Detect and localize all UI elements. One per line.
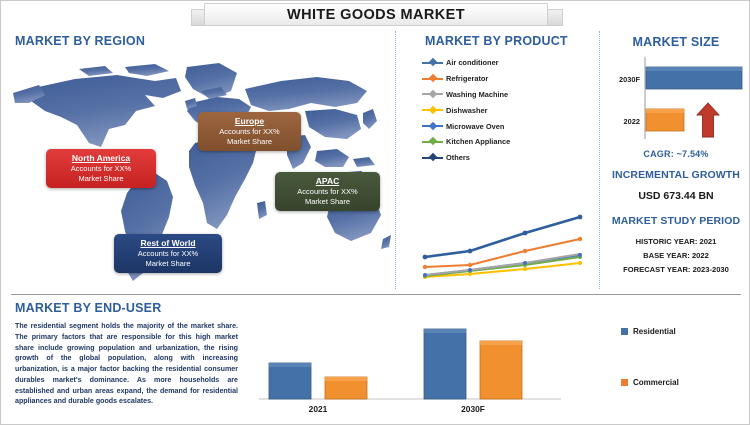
market-by-region-heading: MARKET BY REGION — [15, 34, 145, 48]
infographic-page: WHITE GOODS MARKET MARKET BY REGION — [0, 0, 750, 425]
legend-label: Kitchen Appliance — [443, 137, 510, 146]
base-year: BASE YEAR: 2022 — [601, 251, 750, 260]
legend-label: Microwave Oven — [443, 122, 504, 131]
legend-label: Dishwasher — [443, 106, 488, 115]
cagr-value: CAGR: ~7.54% — [601, 149, 750, 159]
region-line-2: Market Share — [52, 174, 150, 183]
historic-year: HISTORIC YEAR: 2021 — [601, 237, 750, 246]
svg-text:2030F: 2030F — [619, 75, 640, 84]
market-size-bar-chart: 2030F 2022 — [607, 53, 749, 145]
legend-item[interactable]: Refrigerator — [422, 71, 582, 87]
region-line-2: Market Share — [204, 137, 295, 146]
divider-horizontal — [11, 294, 741, 295]
market-size-panel: MARKET SIZE 2030F 2022 CAGR: ~7.54% — [601, 29, 750, 291]
line-marker-icon — [422, 74, 443, 83]
legend-item[interactable]: Air conditioner — [422, 55, 582, 71]
region-title: Europe — [204, 116, 295, 126]
market-by-end-user-panel: MARKET BY END-USER The residential segme… — [1, 297, 750, 425]
region-line-2: Market Share — [120, 259, 216, 268]
line-marker-icon — [422, 122, 443, 131]
market-size-heading: MARKET SIZE — [601, 35, 750, 49]
svg-text:2021: 2021 — [309, 404, 328, 414]
region-line-1: Accounts for XX% — [120, 249, 216, 258]
region-title: North America — [52, 153, 150, 163]
incremental-growth-label: INCREMENTAL GROWTH — [601, 169, 750, 181]
market-by-end-user-heading: MARKET BY END-USER — [15, 301, 161, 315]
forecast-year: FORECAST YEAR: 2023-2030 — [601, 265, 750, 274]
title-banner: WHITE GOODS MARKET — [1, 1, 750, 29]
legend-label: Commercial — [628, 378, 679, 387]
region-line-1: Accounts for XX% — [281, 187, 374, 196]
line-marker-icon — [422, 58, 443, 67]
line-marker-icon — [422, 137, 443, 146]
color-swatch-icon — [621, 379, 628, 386]
market-by-product-panel: MARKET BY PRODUCT Air conditioner Refrig… — [397, 29, 599, 291]
legend-item[interactable]: Microwave Oven — [422, 118, 582, 134]
region-callout-north-america[interactable]: North America Accounts for XX% Market Sh… — [46, 149, 156, 188]
svg-text:2022: 2022 — [624, 117, 640, 126]
up-arrow-icon — [697, 103, 719, 137]
legend-label: Air conditioner — [443, 58, 499, 67]
region-title: Rest of World — [120, 238, 216, 248]
legend-item[interactable]: Kitchen Appliance — [422, 134, 582, 150]
end-user-bar-chart: 2021 2030F — [259, 305, 611, 417]
market-by-region-panel: MARKET BY REGION — [1, 29, 395, 291]
line-marker-icon — [422, 90, 443, 99]
region-title: APAC — [281, 176, 374, 186]
market-by-product-heading: MARKET BY PRODUCT — [425, 34, 568, 48]
region-callout-europe[interactable]: Europe Accounts for XX% Market Share — [198, 112, 301, 151]
color-swatch-icon — [621, 328, 628, 335]
title-ribbon: WHITE GOODS MARKET — [204, 3, 548, 26]
page-title: WHITE GOODS MARKET — [287, 7, 465, 23]
market-study-period-label: MARKET STUDY PERIOD — [601, 215, 750, 227]
legend-item[interactable]: Washing Machine — [422, 87, 582, 103]
legend-label: Residential — [628, 327, 676, 336]
ribbon-tail-right — [547, 9, 563, 26]
svg-text:2030F: 2030F — [461, 404, 485, 414]
region-callout-apac[interactable]: APAC Accounts for XX% Market Share — [275, 172, 380, 211]
incremental-growth-value: USD 673.44 BN — [601, 190, 750, 202]
region-line-1: Accounts for XX% — [204, 127, 295, 136]
legend-item[interactable]: Dishwasher — [422, 102, 582, 118]
product-line-chart — [415, 161, 591, 283]
legend-item[interactable]: Residential — [621, 327, 741, 336]
region-line-2: Market Share — [281, 197, 374, 206]
divider-vertical-left — [395, 31, 396, 289]
end-user-description: The residential segment holds the majori… — [15, 321, 238, 407]
region-line-1: Accounts for XX% — [52, 164, 150, 173]
divider-vertical-right — [599, 31, 600, 289]
region-callout-rest-of-world[interactable]: Rest of World Accounts for XX% Market Sh… — [114, 234, 222, 273]
legend-label: Washing Machine — [443, 90, 508, 99]
legend-label: Refrigerator — [443, 74, 488, 83]
legend-item[interactable]: Commercial — [621, 378, 741, 387]
end-user-legend: Residential Commercial — [621, 327, 741, 425]
product-legend: Air conditioner Refrigerator Washing Mac… — [422, 55, 582, 166]
line-marker-icon — [422, 106, 443, 115]
